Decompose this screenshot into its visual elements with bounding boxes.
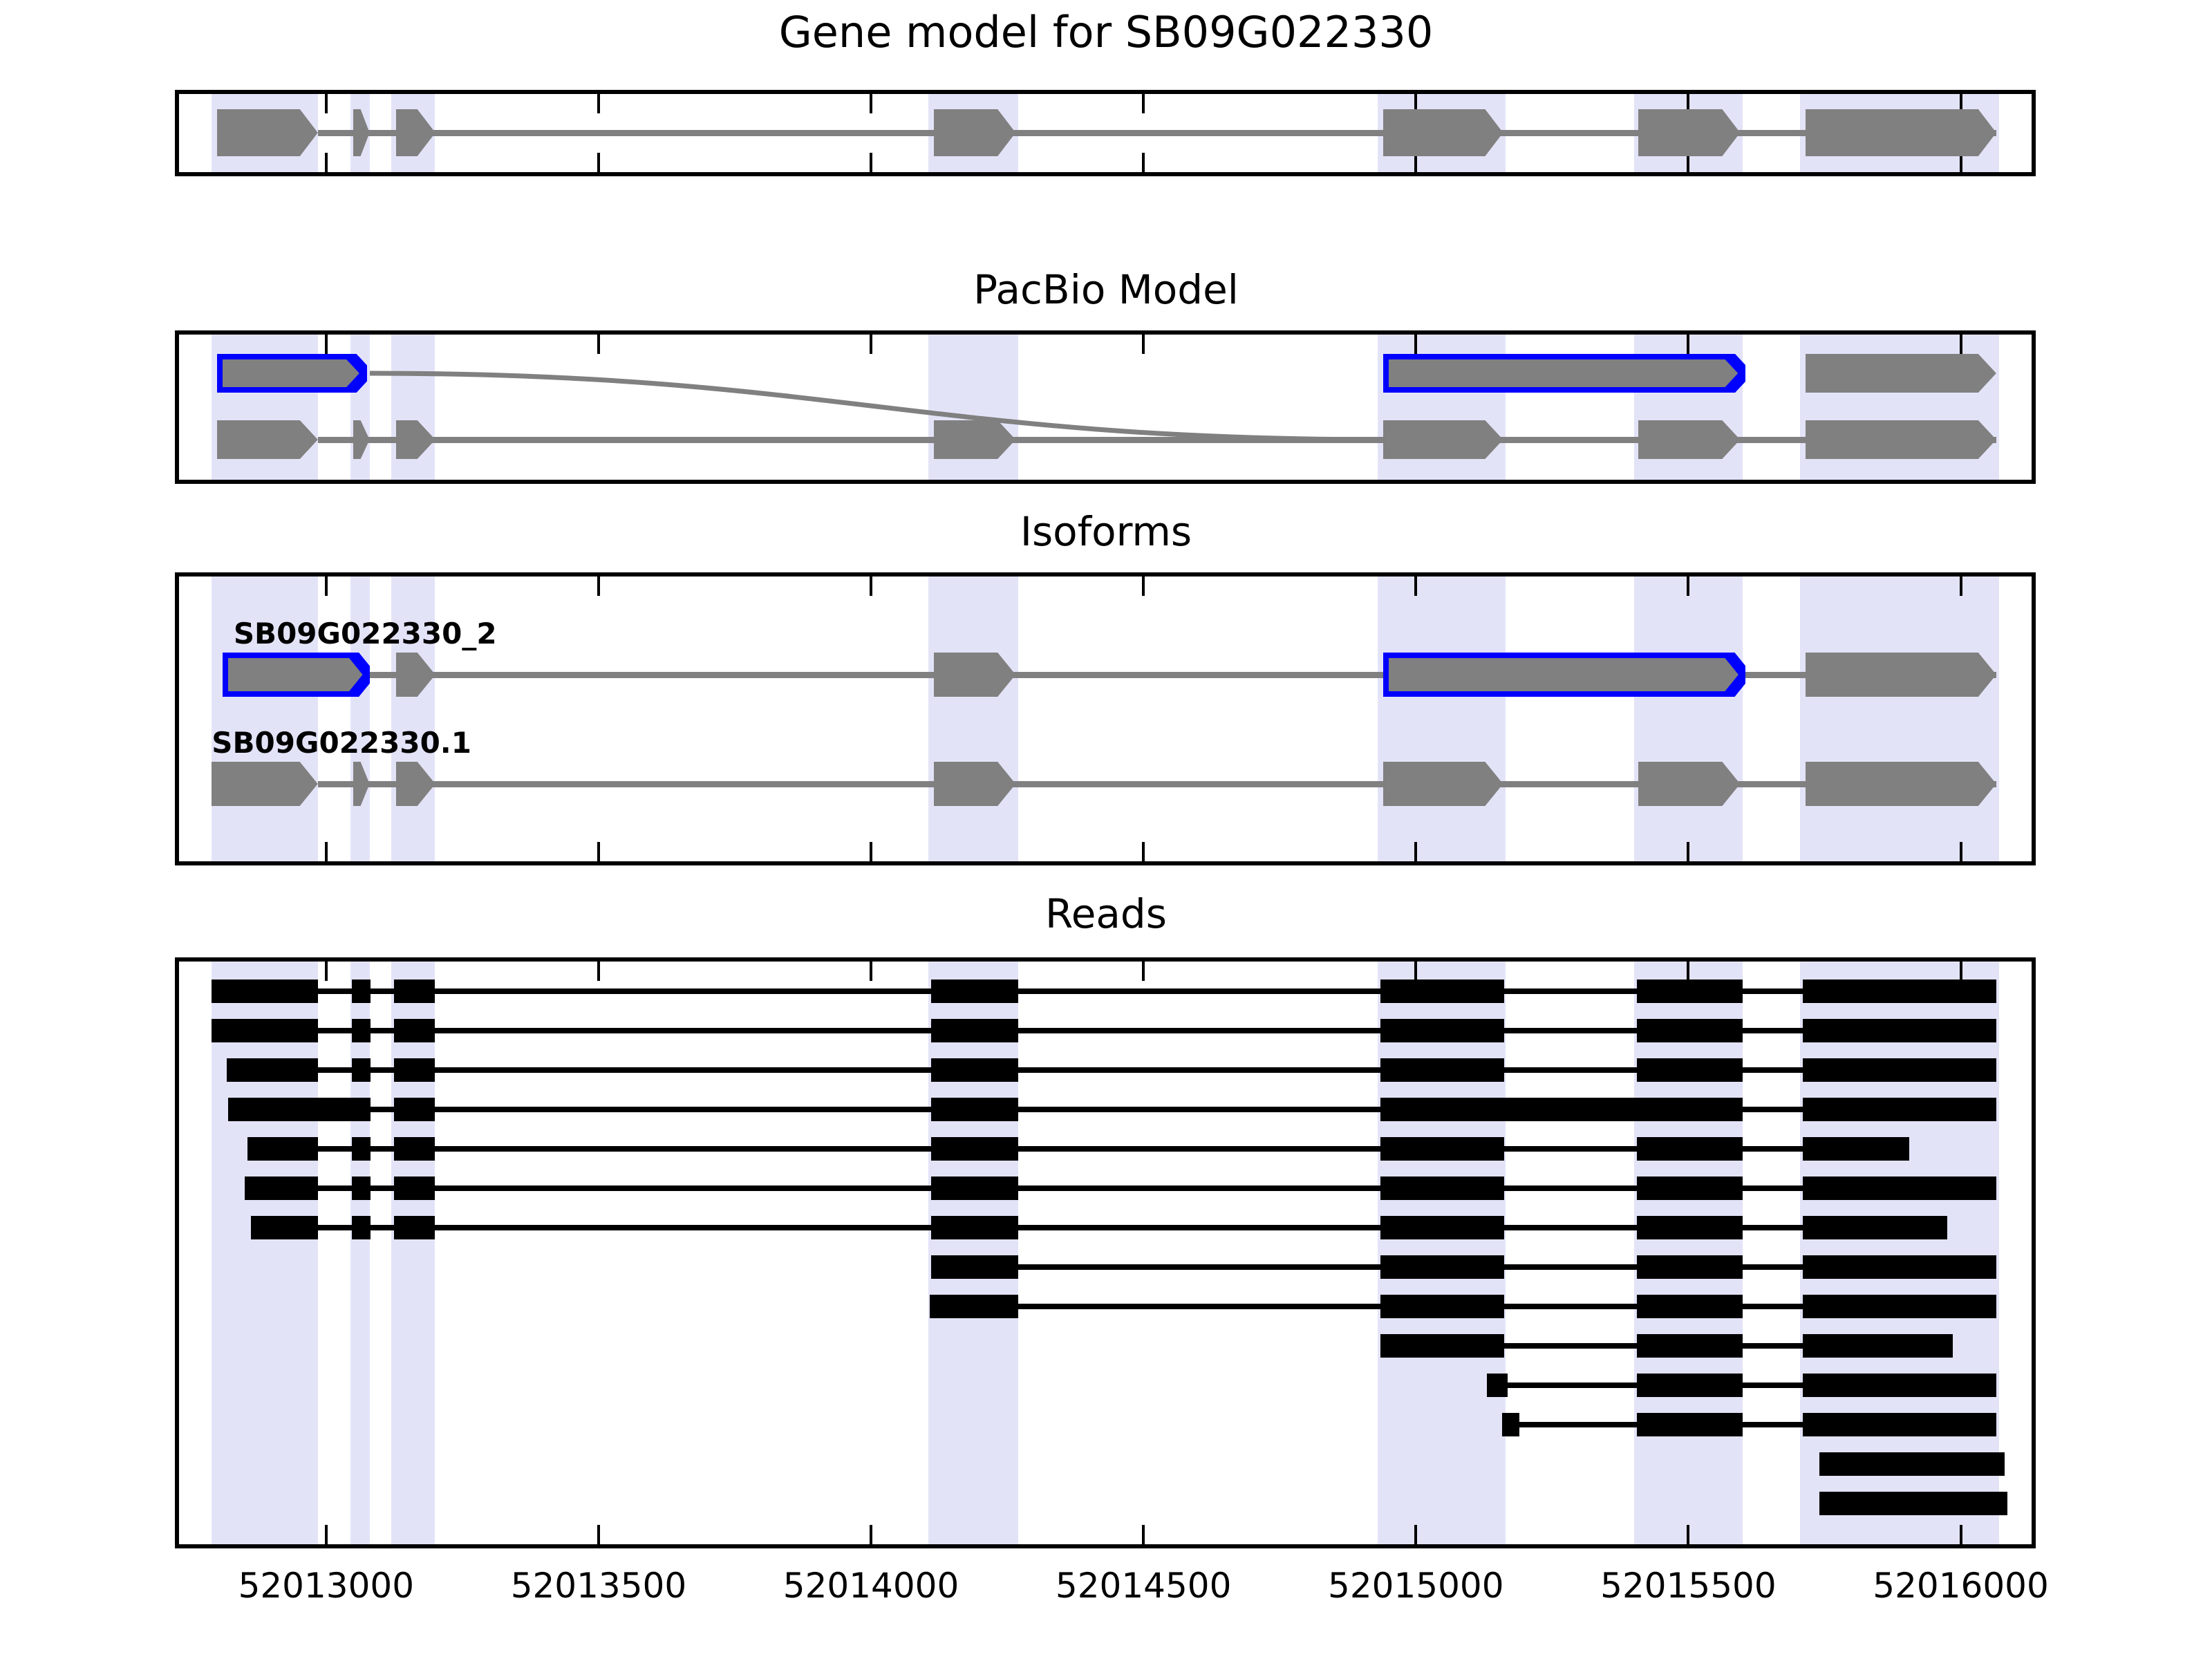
- axis-tick: [870, 153, 872, 172]
- read-exon-block: [931, 980, 1018, 1003]
- exon: [934, 109, 1015, 156]
- axis-tick: [1687, 335, 1689, 354]
- read-exon-block: [1819, 1452, 2005, 1476]
- exon: [353, 109, 370, 156]
- axis-tick: [1414, 842, 1417, 861]
- highlight-band: [1800, 577, 1999, 861]
- axis-tick: [1687, 842, 1689, 861]
- read-exon-block: [1380, 1216, 1504, 1239]
- axis-tick: [1687, 962, 1689, 981]
- read-exon-block: [352, 1058, 371, 1082]
- read-exon-block: [352, 980, 371, 1003]
- axis-tick: [1142, 842, 1145, 861]
- read-exon-block: [1637, 1295, 1743, 1318]
- read-exon-block: [352, 1216, 371, 1239]
- read-exon-block: [1380, 1019, 1504, 1042]
- axis-tick: [870, 94, 872, 113]
- read-exon-block: [1637, 1334, 1743, 1358]
- read-exon-block: [1380, 1098, 1743, 1121]
- exon: [934, 653, 1015, 697]
- read-exon-block: [212, 1019, 318, 1042]
- exon: [1383, 653, 1745, 697]
- axis-tick: [325, 94, 328, 113]
- read-exon-block: [930, 1295, 1018, 1318]
- read-exon-block: [1803, 1177, 1996, 1200]
- read-exon-block: [1502, 1413, 1519, 1436]
- exon: [396, 109, 435, 156]
- exon: [934, 420, 1015, 459]
- exon: [934, 762, 1015, 806]
- read-exon-block: [1803, 1058, 1996, 1082]
- read-exon-block: [394, 1098, 435, 1121]
- highlight-band: [212, 962, 318, 1544]
- read-exon-block: [1803, 1295, 1996, 1318]
- axis-tick: [1960, 1525, 1962, 1544]
- read-exon-block: [1380, 1137, 1504, 1161]
- exon: [217, 354, 367, 393]
- exon: [396, 420, 435, 459]
- read-exon-block: [1637, 1216, 1743, 1239]
- read-exon-block: [931, 1177, 1018, 1200]
- isoform-label: SB09G022330_2: [234, 617, 497, 650]
- axis-tick: [325, 962, 328, 981]
- read-exon-block: [394, 1058, 435, 1082]
- axis-tick-label: 52015500: [1600, 1566, 1777, 1606]
- read-exon-block: [394, 1019, 435, 1042]
- read-exon-block: [1487, 1374, 1508, 1397]
- isoform-label: SB09G022330.1: [212, 726, 471, 760]
- axis-tick: [597, 335, 600, 354]
- axis-tick: [870, 842, 872, 861]
- read-exon-block: [931, 1216, 1018, 1239]
- read-exon-block: [1380, 1177, 1504, 1200]
- exon: [1383, 109, 1503, 156]
- read-exon-block: [1637, 1058, 1743, 1082]
- axis-tick: [597, 577, 600, 596]
- panel-pacbio-model: [175, 330, 2036, 484]
- read-exon-block: [931, 1019, 1018, 1042]
- read-exon-block: [245, 1177, 318, 1200]
- highlight-band: [391, 962, 435, 1544]
- exon: [1806, 420, 1996, 459]
- intron-line: [370, 672, 1996, 678]
- read-exon-block: [394, 1216, 435, 1239]
- exon: [1383, 420, 1503, 459]
- read-exon-block: [1380, 1058, 1504, 1082]
- exon: [1806, 354, 1996, 393]
- read-exon-block: [931, 1137, 1018, 1161]
- panel-gene-model: [175, 90, 2036, 176]
- read-exon-block: [1803, 1216, 1947, 1239]
- axis-tick: [325, 335, 328, 354]
- read-exon-block: [1803, 1098, 1996, 1121]
- axis-tick: [1414, 577, 1417, 596]
- exon: [353, 762, 370, 806]
- axis-tick-label: 52015000: [1328, 1566, 1504, 1606]
- read-exon-block: [1803, 1137, 1909, 1161]
- figure-title: Gene model for SB09G022330: [0, 7, 2212, 57]
- exon: [1638, 109, 1740, 156]
- axis-tick: [1687, 1525, 1689, 1544]
- axis-tick: [1142, 153, 1145, 172]
- highlight-band: [928, 962, 1018, 1544]
- exon: [1383, 762, 1503, 806]
- axis-tick: [1414, 1525, 1417, 1544]
- panel-title-isoforms: Isoforms: [0, 508, 2212, 555]
- read-exon-block: [1637, 1019, 1743, 1042]
- axis-tick: [1142, 335, 1145, 354]
- read-exon-block: [1380, 1295, 1504, 1318]
- read-exon-block: [1380, 980, 1504, 1003]
- highlight-band: [1378, 577, 1506, 861]
- axis-tick: [1414, 962, 1417, 981]
- read-exon-block: [228, 1098, 371, 1121]
- highlight-band: [1378, 962, 1506, 1544]
- axis-tick: [1142, 577, 1145, 596]
- exon: [217, 109, 318, 156]
- axis-tick-label: 52014500: [1056, 1566, 1232, 1606]
- exon: [1638, 420, 1740, 459]
- read-exon-block: [394, 980, 435, 1003]
- read-exon-block: [1637, 1413, 1743, 1436]
- exon: [353, 420, 370, 459]
- read-exon-block: [931, 1255, 1018, 1279]
- exon: [396, 762, 435, 806]
- axis-tick: [870, 962, 872, 981]
- read-exon-block: [931, 1098, 1018, 1121]
- read-exon-block: [247, 1137, 318, 1161]
- exon: [212, 762, 318, 806]
- read-exon-block: [1380, 1255, 1504, 1279]
- axis-tick: [1414, 335, 1417, 354]
- read-exon-block: [1637, 1137, 1743, 1161]
- exon: [1806, 762, 1996, 806]
- exon: [1806, 109, 1996, 156]
- axis-tick: [1142, 1525, 1145, 1544]
- axis-tick: [325, 1525, 328, 1544]
- axis-tick: [597, 842, 600, 861]
- axis-tick: [325, 577, 328, 596]
- read-exon-block: [1803, 980, 1996, 1003]
- read-exon-block: [1637, 1177, 1743, 1200]
- axis-tick: [597, 1525, 600, 1544]
- read-exon-block: [352, 1019, 371, 1042]
- axis-tick: [870, 335, 872, 354]
- axis-tick: [1142, 962, 1145, 981]
- read-exon-block: [394, 1137, 435, 1161]
- highlight-band: [1634, 577, 1743, 861]
- read-exon-block: [394, 1177, 435, 1200]
- axis-tick: [325, 153, 328, 172]
- read-exon-block: [1803, 1413, 1996, 1436]
- read-exon-block: [931, 1058, 1018, 1082]
- read-exon-block: [352, 1177, 371, 1200]
- highlight-band: [928, 577, 1018, 861]
- panel-title-pacbio: PacBio Model: [0, 266, 2212, 313]
- intron-line: [318, 437, 1996, 443]
- exon: [1383, 354, 1745, 393]
- axis-tick: [325, 842, 328, 861]
- intron-line: [318, 130, 1996, 136]
- exon: [1806, 653, 1996, 697]
- read-exon-block: [227, 1058, 318, 1082]
- read-exon-block: [1803, 1019, 1996, 1042]
- splice-curve: [367, 371, 1386, 442]
- exon: [1638, 762, 1740, 806]
- axis-tick: [1960, 962, 1962, 981]
- read-exon-block: [212, 980, 318, 1003]
- read-exon-block: [1637, 980, 1743, 1003]
- exon: [217, 420, 318, 459]
- exon: [396, 653, 435, 697]
- panel-title-reads: Reads: [0, 890, 2212, 937]
- read-exon-block: [1803, 1255, 1996, 1279]
- axis-tick: [597, 962, 600, 981]
- panel-reads: [175, 957, 2036, 1548]
- read-exon-block: [1637, 1255, 1743, 1279]
- highlight-band: [1634, 962, 1743, 1544]
- read-exon-block: [1380, 1334, 1504, 1358]
- axis-tick-label: 52013000: [238, 1566, 415, 1606]
- axis-tick: [597, 153, 600, 172]
- axis-tick: [870, 1525, 872, 1544]
- axis-tick: [1960, 577, 1962, 596]
- read-exon-block: [1803, 1334, 1953, 1358]
- read-exon-block: [251, 1216, 318, 1239]
- axis-tick: [597, 94, 600, 113]
- read-exon-block: [1819, 1492, 2007, 1515]
- read-exon-block: [352, 1137, 371, 1161]
- axis-tick-label: 52016000: [1873, 1566, 2049, 1606]
- intron-line: [318, 781, 1996, 787]
- highlight-band: [350, 962, 370, 1544]
- x-axis-tick-labels: 5201300052013500520140005201450052015000…: [0, 1566, 2212, 1628]
- axis-tick: [1960, 842, 1962, 861]
- axis-tick: [1142, 94, 1145, 113]
- axis-tick-label: 52013500: [511, 1566, 687, 1606]
- axis-tick: [870, 577, 872, 596]
- panel-isoforms: SB09G022330_2SB09G022330.1: [175, 572, 2036, 865]
- read-exon-block: [1637, 1374, 1743, 1397]
- read-exon-block: [1803, 1374, 1996, 1397]
- axis-tick-label: 52014000: [783, 1566, 959, 1606]
- axis-tick: [1687, 577, 1689, 596]
- exon: [223, 653, 370, 697]
- axis-tick: [1960, 335, 1962, 354]
